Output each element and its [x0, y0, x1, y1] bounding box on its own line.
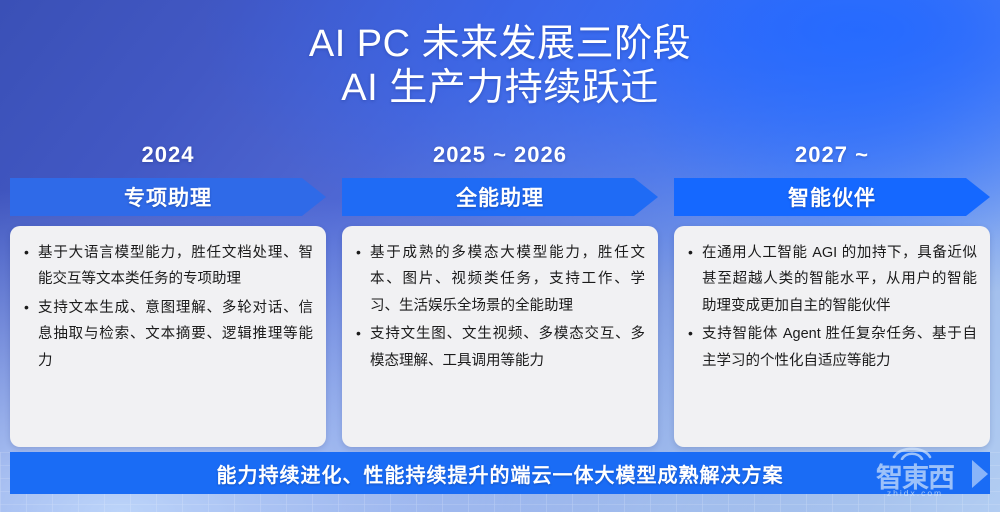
bottom-summary-banner: 能力持续进化、性能持续提升的端云一体大模型成熟解决方案 — [10, 452, 990, 494]
stage-banner-3: 智能伙伴 — [674, 178, 990, 216]
stage-column-2: 2025 ~ 2026 全能助理 基于成熟的多模态大模型能力，胜任文本、图片、视… — [342, 142, 658, 447]
title-line-1: AI PC 未来发展三阶段 — [0, 22, 1000, 66]
list-item: 支持文生图、文生视频、多模态交互、多模态理解、工具调用等能力 — [355, 321, 645, 374]
list-item: 支持文本生成、意图理解、多轮对话、信息抽取与检索、文本摘要、逻辑推理等能力 — [23, 295, 313, 374]
list-item: 支持智能体 Agent 胜任复杂任务、基于自主学习的个性化自适应等能力 — [687, 321, 977, 374]
stage-card-1: 基于大语言模型能力，胜任文档处理、智能交互等文本类任务的专项助理 支持文本生成、… — [10, 226, 326, 447]
list-item: 基于成熟的多模态大模型能力，胜任文本、图片、视频类任务，支持工作、学习、生活娱乐… — [355, 240, 645, 319]
stage-banner-label-1: 专项助理 — [124, 182, 212, 212]
title-line-2: AI 生产力持续跃迁 — [0, 66, 1000, 110]
stage-column-3: 2027 ~ 智能伙伴 在通用人工智能 AGI 的加持下，具备近似甚至超越人类的… — [674, 142, 990, 447]
stage-bullet-list-3: 在通用人工智能 AGI 的加持下，具备近似甚至超越人类的智能水平，从用户的智能助… — [687, 240, 977, 374]
bottom-banner-label: 能力持续进化、性能持续提升的端云一体大模型成熟解决方案 — [217, 459, 784, 488]
stage-columns: 2024 专项助理 基于大语言模型能力，胜任文档处理、智能交互等文本类任务的专项… — [10, 142, 990, 447]
slide-root: AI PC 未来发展三阶段 AI 生产力持续跃迁 2024 专项助理 基于大语言… — [0, 0, 1000, 512]
list-item: 基于大语言模型能力，胜任文档处理、智能交互等文本类任务的专项助理 — [23, 240, 313, 293]
stage-year-1: 2024 — [10, 142, 326, 174]
stage-bullet-list-1: 基于大语言模型能力，胜任文档处理、智能交互等文本类任务的专项助理 支持文本生成、… — [23, 240, 313, 374]
stage-banner-label-2: 全能助理 — [456, 182, 544, 212]
stage-banner-1: 专项助理 — [10, 178, 326, 216]
stage-card-2: 基于成熟的多模态大模型能力，胜任文本、图片、视频类任务，支持工作、学习、生活娱乐… — [342, 226, 658, 447]
stage-banner-label-3: 智能伙伴 — [788, 182, 876, 212]
stage-year-3: 2027 ~ — [674, 142, 990, 174]
page-title: AI PC 未来发展三阶段 AI 生产力持续跃迁 — [0, 22, 1000, 110]
stage-column-1: 2024 专项助理 基于大语言模型能力，胜任文档处理、智能交互等文本类任务的专项… — [10, 142, 326, 447]
stage-bullet-list-2: 基于成熟的多模态大模型能力，胜任文本、图片、视频类任务，支持工作、学习、生活娱乐… — [355, 240, 645, 374]
stage-card-3: 在通用人工智能 AGI 的加持下，具备近似甚至超越人类的智能水平，从用户的智能助… — [674, 226, 990, 447]
stage-year-2: 2025 ~ 2026 — [342, 142, 658, 174]
list-item: 在通用人工智能 AGI 的加持下，具备近似甚至超越人类的智能水平，从用户的智能助… — [687, 240, 977, 319]
stage-banner-2: 全能助理 — [342, 178, 658, 216]
